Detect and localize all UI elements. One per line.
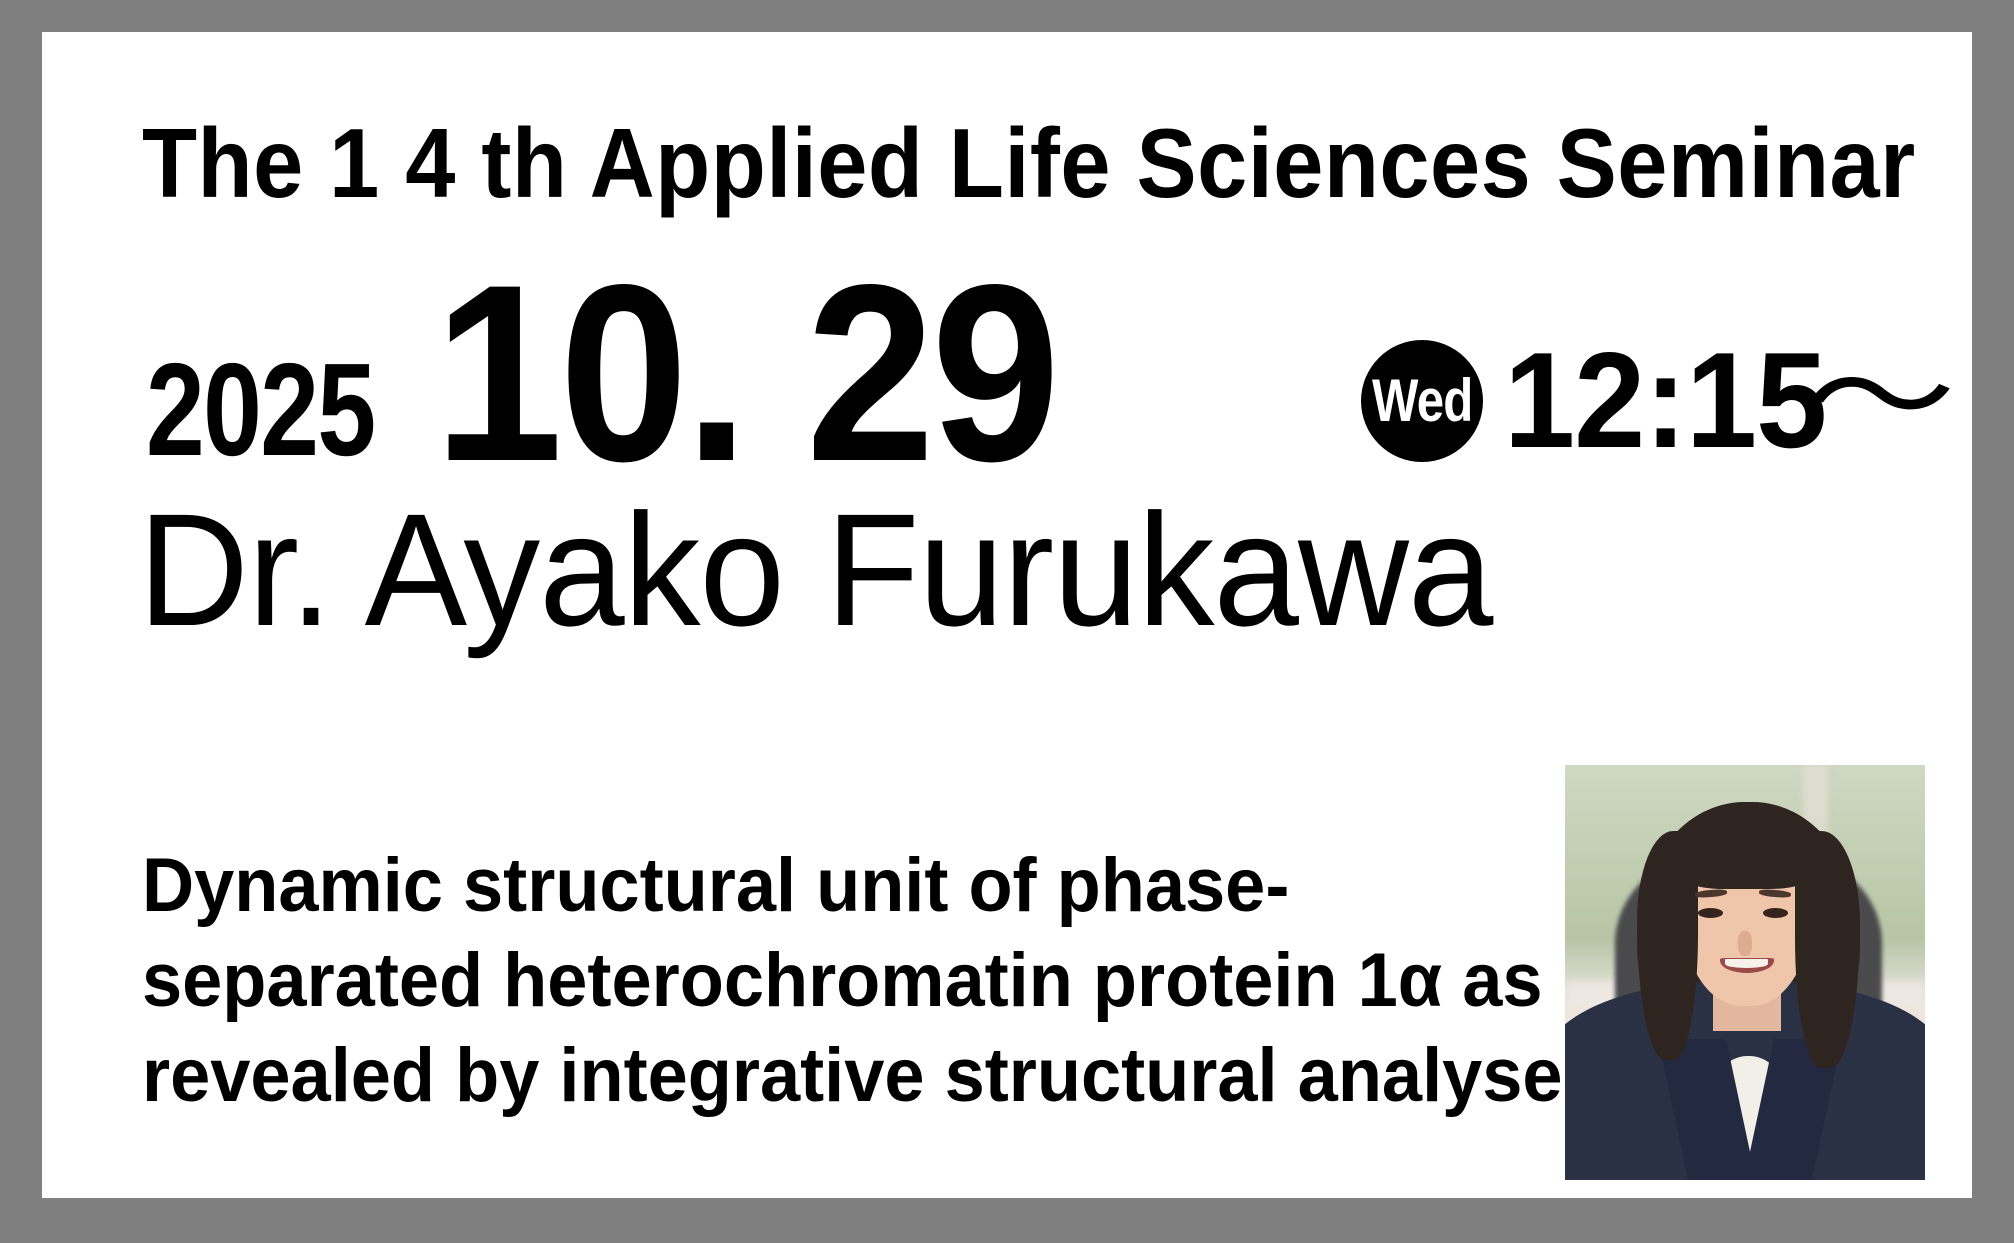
poster-white-panel: The 1 4 th Applied Life Sciences Seminar… [42,32,1972,1198]
talk-title-line-1: Dynamic structural unit of phase- [142,838,1529,933]
weekday-badge: Wed [1361,340,1483,462]
event-year: 2025 [146,344,375,476]
weekday-badge-label: Wed [1372,371,1473,431]
seminar-title: The 1 4 th Applied Life Sciences Seminar [142,114,1798,212]
event-month-day: 10. 29 [434,248,1057,500]
speaker-name: Dr. Ayako Furukawa [138,490,1866,650]
photo-nose [1738,931,1752,956]
event-start-time: 12:15 [1504,332,1826,468]
talk-title-line-3: revealed by integrative structural analy… [142,1028,1529,1123]
talk-title: Dynamic structural unit of phase- separa… [142,838,1602,1123]
time-range-dash: 〜 [1806,338,1956,458]
photo-teeth [1725,959,1768,967]
event-date-row: 2025 10. 29 Wed 12:15 〜 [146,262,1946,482]
talk-title-line-2: separated heterochromatin protein 1α as [142,933,1529,1028]
speaker-photo [1565,765,1925,1180]
seminar-poster: The 1 4 th Applied Life Sciences Seminar… [0,0,2014,1243]
